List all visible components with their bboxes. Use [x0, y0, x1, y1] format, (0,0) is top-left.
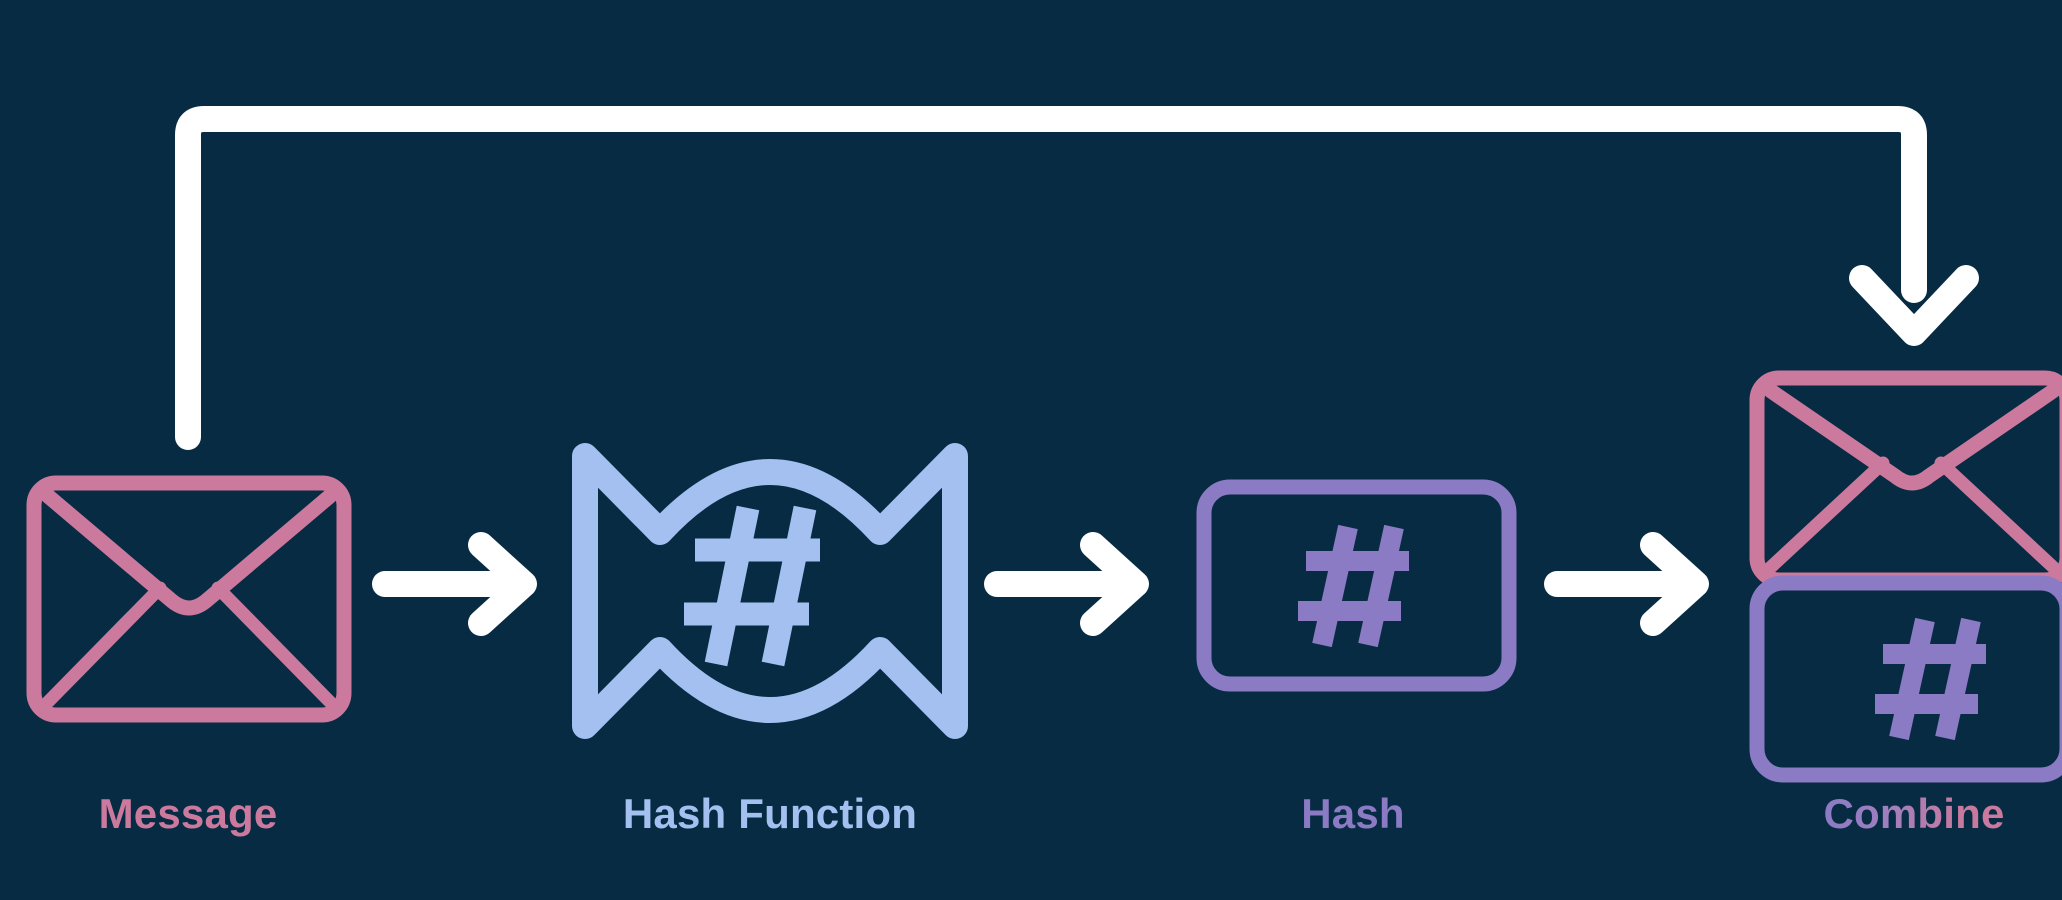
arrow-hash-to-combine: [1557, 545, 1696, 623]
hash-box-icon: [1204, 487, 1509, 684]
combine-envelope-icon: [1757, 378, 2062, 580]
hash-stroke-vert-2: [1945, 620, 1971, 738]
feedback-loop-connector: [188, 119, 1966, 437]
stage-label-hash-function: Hash Function: [623, 793, 917, 835]
diagram-graphics: [0, 0, 2062, 900]
hash-stroke-vert-2: [773, 508, 805, 664]
arrow-hash-function-to-hash: [997, 545, 1136, 623]
arrow-message-to-hash-function: [385, 545, 524, 623]
envelope-fold-left: [48, 588, 160, 702]
diagram-canvas: Message Hash Function Hash Combine: [0, 0, 2062, 900]
envelope-fold-right: [218, 588, 330, 702]
envelope-flap: [1771, 391, 2053, 483]
stage-label-message: Message: [99, 793, 278, 835]
message-envelope-icon: [34, 483, 344, 715]
envelope-fold-left: [1771, 463, 1883, 567]
hash-function-glyph: [684, 508, 820, 664]
hash-box-outline: [1204, 487, 1509, 684]
hash-stroke-vert-1: [1322, 527, 1348, 645]
envelope-fold-right: [1941, 463, 2053, 567]
stage-label-combine: Combine: [1823, 793, 2004, 835]
hash-stroke-vert-1: [1899, 620, 1925, 738]
combine-hash-box-icon: [1757, 583, 2062, 775]
hash-box-glyph: [1298, 527, 1409, 645]
hash-stroke-vert-1: [716, 508, 748, 664]
combine-stack-icon: [1757, 378, 2062, 775]
hash-function-ribbon-icon: [585, 456, 955, 726]
hash-stroke-vert-2: [1368, 527, 1394, 645]
ribbon-outline: [585, 456, 955, 726]
stage-label-hash: Hash: [1301, 793, 1405, 835]
envelope-flap: [48, 496, 330, 608]
feedback-loop-path: [188, 119, 1914, 437]
combine-hash-glyph: [1875, 620, 1986, 738]
